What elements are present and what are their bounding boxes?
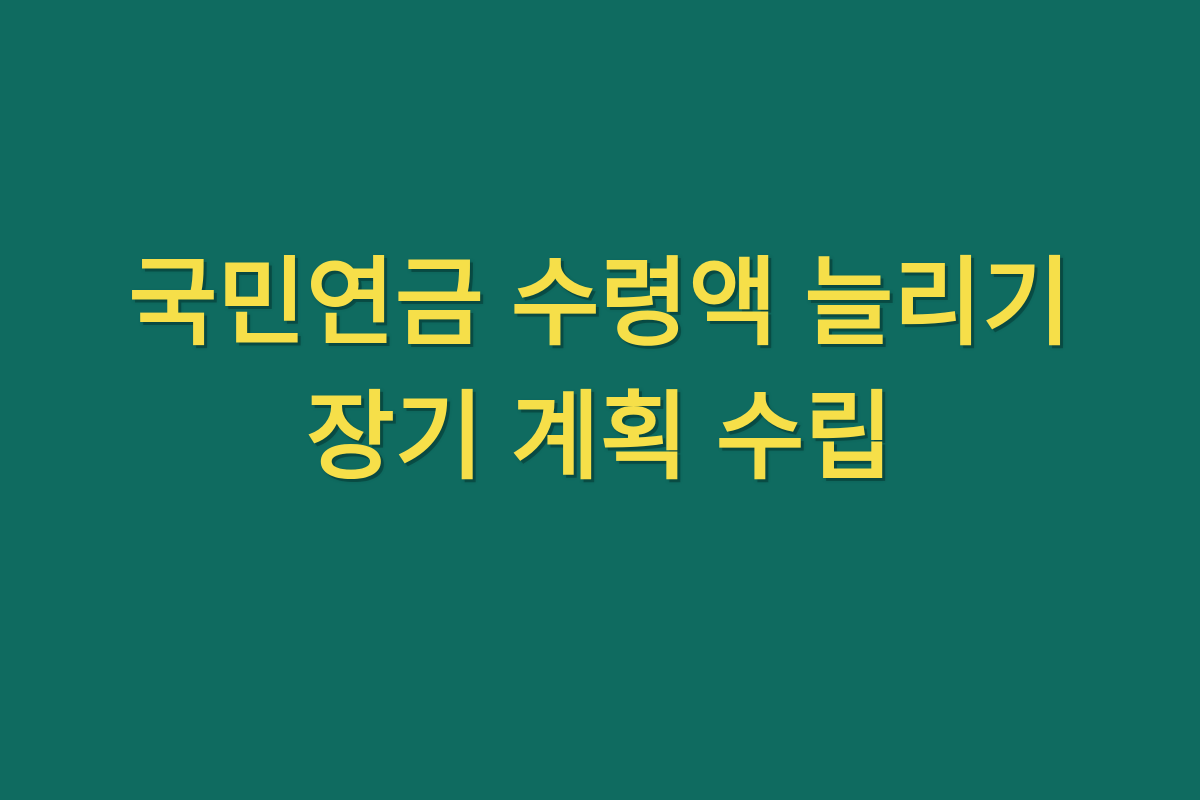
- headline-line-2: 장기 계획 수립: [0, 371, 1200, 505]
- headline-block: 국민연금 수령액 늘리기 장기 계획 수립: [0, 237, 1200, 505]
- banner-canvas: 국민연금 수령액 늘리기 장기 계획 수립: [0, 0, 1200, 800]
- headline-line-1: 국민연금 수령액 늘리기: [0, 237, 1200, 371]
